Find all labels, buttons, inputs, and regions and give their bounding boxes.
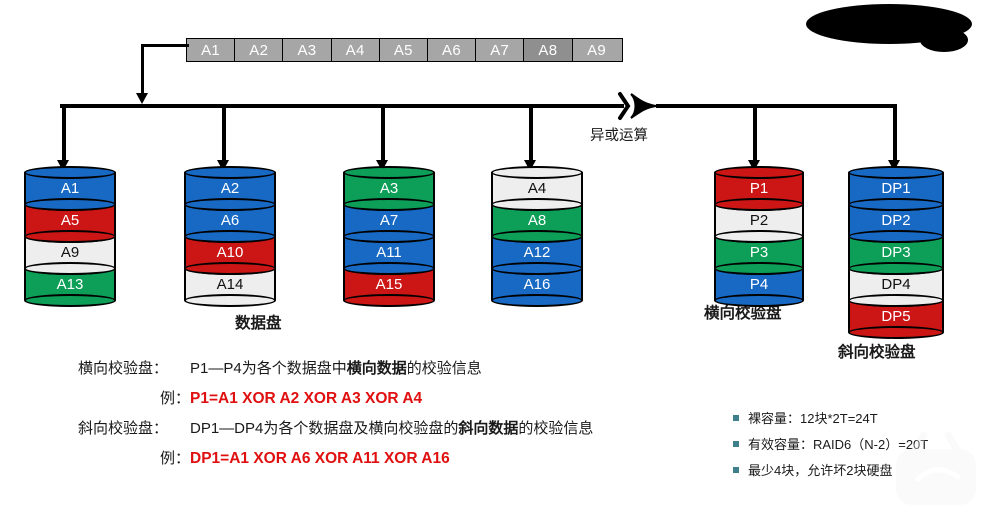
segment-label: A4 xyxy=(528,181,546,196)
segment-label: DP4 xyxy=(881,277,910,292)
segment-label: P2 xyxy=(750,213,768,228)
segment-label: A10 xyxy=(217,245,244,260)
wire-left-down xyxy=(141,44,144,94)
stripe-cell-a5[interactable]: A5 xyxy=(380,39,428,61)
segment-bottom-ellipse xyxy=(343,262,435,275)
explanation-row-body: P1—P4为各个数据盘中横向数据的校验信息 xyxy=(190,357,482,378)
drop-line-disk-dp xyxy=(893,104,897,164)
segment-label: A8 xyxy=(528,213,546,228)
segment-label: P1 xyxy=(750,181,768,196)
segment-label: A7 xyxy=(380,213,398,228)
capacity-note-text: 裸容量：12块*2T=24T xyxy=(748,408,878,427)
segment-bottom-ellipse xyxy=(343,294,435,307)
segment-bottom-ellipse xyxy=(24,230,116,243)
explanation-text-emphasis: 斜向数据 xyxy=(458,420,518,437)
capacity-note-text: 最少4块，允许坏2块硬盘 xyxy=(748,460,892,479)
segment-label: A16 xyxy=(524,277,551,292)
bullet-square-icon xyxy=(733,467,739,473)
xor-operation-label: 异或运算 xyxy=(590,124,648,145)
segment-label: A14 xyxy=(217,277,244,292)
segment-bottom-ellipse xyxy=(24,262,116,275)
segment-bottom-ellipse xyxy=(343,198,435,211)
explanation-text-prefix: P1—P4为各个数据盘中 xyxy=(190,360,347,377)
disk-parity-diagonal[interactable]: DP1DP2DP3DP4DP5 xyxy=(848,165,944,338)
drop-line-disk-2 xyxy=(222,104,226,164)
disk-parity-horizontal[interactable]: P1P2P3P4 xyxy=(714,165,804,306)
segment-top-ellipse xyxy=(491,166,583,179)
stripe-cell-a7[interactable]: A7 xyxy=(476,39,524,61)
segment-label: DP3 xyxy=(881,245,910,260)
segment-top-ellipse xyxy=(714,166,804,179)
segment-bottom-ellipse xyxy=(848,262,944,275)
segment-bottom-ellipse xyxy=(491,198,583,211)
drop-line-disk-p xyxy=(753,104,757,164)
segment-label: A5 xyxy=(61,213,79,228)
explanation-row-head: 斜向校验盘： xyxy=(78,417,190,438)
disk-segment-a4[interactable]: A4 xyxy=(491,172,583,204)
explanation-block: 横向校验盘：P1—P4为各个数据盘中横向数据的校验信息例：P1=A1 XOR A… xyxy=(78,357,718,477)
segment-bottom-ellipse xyxy=(184,198,276,211)
disk-4[interactable]: A4A8A12A16 xyxy=(491,165,583,306)
disk-1[interactable]: A1A5A9A13 xyxy=(24,165,116,306)
redaction-blob-tail xyxy=(920,28,968,52)
segment-top-ellipse xyxy=(184,166,276,179)
explanation-text-prefix: DP1—DP4为各个数据盘及横向校验盘的 xyxy=(190,420,458,437)
bullet-square-icon xyxy=(733,415,739,421)
stripe-cell-a2[interactable]: A2 xyxy=(235,39,283,61)
explanation-row-head: 例： xyxy=(78,387,190,408)
xor-gate-icon xyxy=(604,90,670,122)
wire-stripe-to-left xyxy=(141,44,189,47)
disk-3[interactable]: A3A7A11A15 xyxy=(343,165,435,306)
stripe-cell-a8[interactable]: A8 xyxy=(524,39,572,61)
segment-bottom-ellipse xyxy=(24,198,116,211)
segment-label: A9 xyxy=(61,245,79,260)
explanation-formula: P1=A1 XOR A2 XOR A3 XOR A4 xyxy=(190,390,422,408)
bus-line-right xyxy=(666,104,897,108)
segment-label: A13 xyxy=(57,277,84,292)
bullet-square-icon xyxy=(733,441,739,447)
segment-bottom-ellipse xyxy=(848,294,944,307)
segment-bottom-ellipse xyxy=(714,262,804,275)
explanation-row: 例：DP1=A1 XOR A6 XOR A11 XOR A16 xyxy=(78,447,718,468)
segment-bottom-ellipse xyxy=(24,294,116,307)
diagram-canvas: A1A2A3A4A5A6A7A8A9 异或运算 A1A5A9A13 A2A6A1… xyxy=(0,0,992,491)
segment-bottom-ellipse xyxy=(848,198,944,211)
segment-label: DP1 xyxy=(881,181,910,196)
segment-bottom-ellipse xyxy=(714,198,804,211)
explanation-row-head: 例： xyxy=(78,447,190,468)
stripe-cell-a1[interactable]: A1 xyxy=(187,39,235,61)
explanation-row-head: 横向校验盘： xyxy=(78,357,190,378)
explanation-formula: DP1=A1 XOR A6 XOR A11 XOR A16 xyxy=(190,450,450,468)
data-stripe-bar: A1A2A3A4A5A6A7A8A9 xyxy=(186,38,623,62)
explanation-text-suffix: 的校验信息 xyxy=(407,360,482,377)
segment-bottom-ellipse xyxy=(184,294,276,307)
stripe-cell-a6[interactable]: A6 xyxy=(428,39,476,61)
disk-segment-dp1[interactable]: DP1 xyxy=(848,172,944,204)
explanation-text-emphasis: 横向数据 xyxy=(347,360,407,377)
segment-label: P3 xyxy=(750,245,768,260)
disk-segment-a1[interactable]: A1 xyxy=(24,172,116,204)
segment-label: A3 xyxy=(380,181,398,196)
segment-bottom-ellipse xyxy=(491,230,583,243)
corner-watermark-icon xyxy=(888,427,984,505)
segment-bottom-ellipse xyxy=(491,294,583,307)
segment-label: A11 xyxy=(376,245,402,260)
drop-line-disk-1 xyxy=(62,104,66,164)
segment-label: A12 xyxy=(524,245,551,260)
arrow-into-bus xyxy=(136,93,148,104)
segment-label: A1 xyxy=(61,181,79,196)
explanation-row: 例：P1=A1 XOR A2 XOR A3 XOR A4 xyxy=(78,387,718,408)
caption-diagonal-parity: 斜向校验盘 xyxy=(838,340,916,362)
segment-label: P4 xyxy=(750,277,768,292)
disk-2[interactable]: A2A6A10A14 xyxy=(184,165,276,306)
segment-bottom-ellipse xyxy=(714,294,804,307)
segment-label: DP5 xyxy=(881,309,910,324)
explanation-text-suffix: 的校验信息 xyxy=(518,420,593,437)
explanation-row-body: DP1—DP4为各个数据盘及横向校验盘的斜向数据的校验信息 xyxy=(190,417,593,438)
segment-bottom-ellipse xyxy=(491,262,583,275)
disk-segment-a3[interactable]: A3 xyxy=(343,172,435,204)
segment-bottom-ellipse xyxy=(848,230,944,243)
segment-label: A15 xyxy=(376,277,403,292)
stripe-cell-a3[interactable]: A3 xyxy=(283,39,331,61)
caption-data-disks: 数据盘 xyxy=(235,311,282,333)
drop-line-disk-4 xyxy=(529,104,533,164)
segment-bottom-ellipse xyxy=(714,230,804,243)
disk-segment-p1[interactable]: P1 xyxy=(714,172,804,204)
segment-label: DP2 xyxy=(881,213,910,228)
stripe-cell-a9[interactable]: A9 xyxy=(573,39,621,61)
segment-label: A6 xyxy=(221,213,239,228)
segment-bottom-ellipse xyxy=(343,230,435,243)
explanation-row: 横向校验盘：P1—P4为各个数据盘中横向数据的校验信息 xyxy=(78,357,718,378)
drop-line-disk-3 xyxy=(381,104,385,164)
segment-bottom-ellipse xyxy=(848,326,944,339)
explanation-row: 斜向校验盘：DP1—DP4为各个数据盘及横向校验盘的斜向数据的校验信息 xyxy=(78,417,718,438)
segment-top-ellipse xyxy=(848,166,944,179)
segment-top-ellipse xyxy=(24,166,116,179)
segment-bottom-ellipse xyxy=(184,262,276,275)
disk-segment-a2[interactable]: A2 xyxy=(184,172,276,204)
segment-label: A2 xyxy=(221,181,239,196)
segment-bottom-ellipse xyxy=(184,230,276,243)
segment-top-ellipse xyxy=(343,166,435,179)
stripe-cell-a4[interactable]: A4 xyxy=(332,39,380,61)
capacity-note-item: 裸容量：12块*2T=24T xyxy=(733,408,928,427)
